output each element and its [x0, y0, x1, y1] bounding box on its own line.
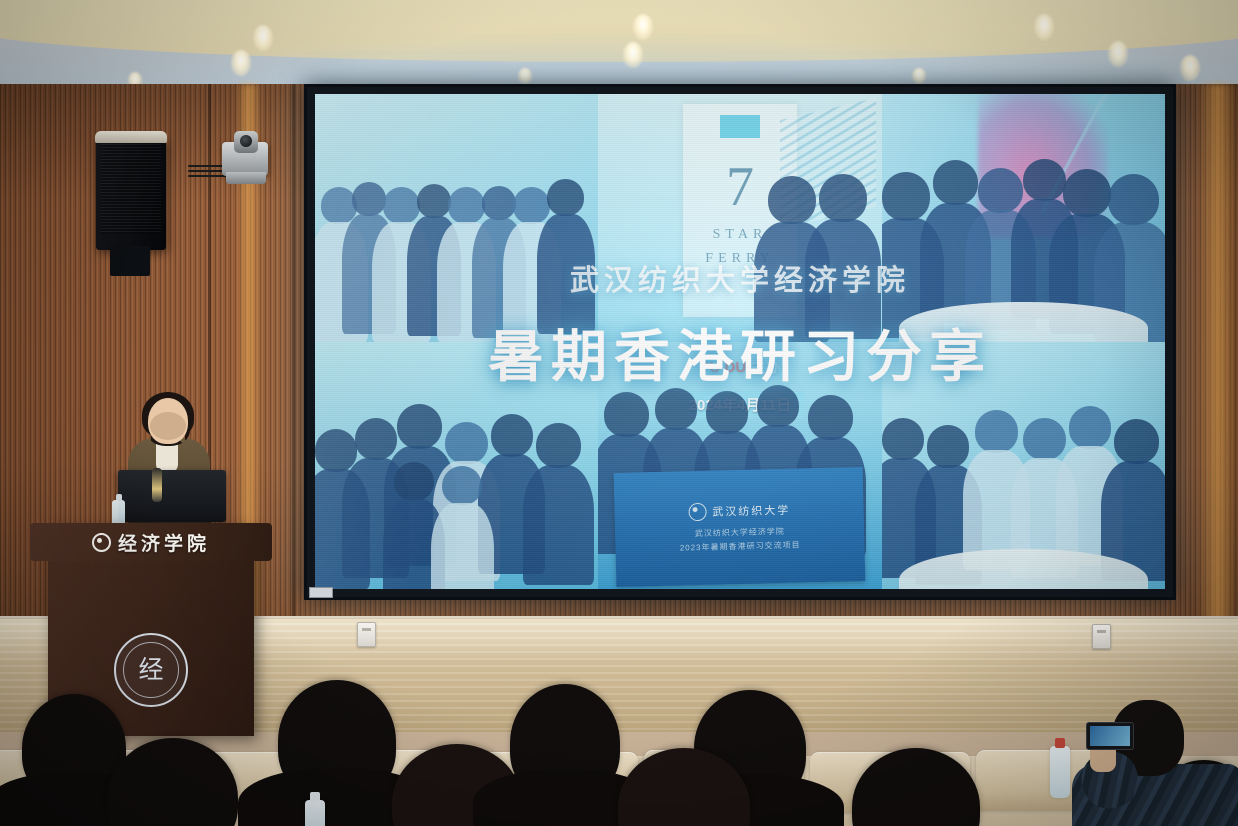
camera-mount [226, 172, 266, 184]
collage-photo-top-left [315, 94, 598, 342]
screen-surface: 7 STAR FERRY [315, 94, 1165, 589]
presenter-laptop [118, 470, 226, 522]
presentation-screen[interactable]: 7 STAR FERRY [304, 84, 1176, 600]
ceiling-light-icon [623, 42, 643, 68]
audience-member-with-phone [1064, 690, 1238, 826]
collage-photo-bottom-left [315, 342, 598, 590]
audience-water-bottle [305, 800, 325, 826]
banner-logo-row: 武汉纺织大学 [688, 501, 790, 521]
ceiling-light-icon [912, 68, 926, 84]
speaker-top-cap [95, 131, 167, 143]
banner-line-1: 武汉纺织大学经济学院 [695, 526, 785, 539]
wall-outlet [1092, 624, 1111, 649]
podium-label: 经济学院 [30, 529, 272, 556]
screen-label-tag [309, 587, 333, 598]
university-seal-icon: 经 [114, 633, 188, 707]
presenter-face [150, 412, 186, 440]
podium-top-panel: 经济学院 [30, 523, 272, 561]
camera-lens-icon [234, 131, 258, 153]
host-suffix: 主办 [750, 359, 780, 376]
ceiling-light-icon [1108, 41, 1128, 67]
photo-group-people [315, 401, 598, 589]
wall-seam [292, 84, 295, 624]
podium-logo-icon [92, 533, 111, 552]
podium-label-text: 经济学院 [118, 534, 210, 555]
host-brand: PU DU [700, 359, 747, 376]
collage-photo-top-middle: 7 STAR FERRY [598, 94, 881, 342]
photo-group-people [598, 223, 881, 342]
photo-group-people [315, 153, 598, 341]
speaker-grille [101, 144, 161, 234]
collage-photo-bottom-right [882, 342, 1165, 590]
wall-outlet [357, 622, 376, 647]
banner-line-2: 2023年暑期香港研习交流项目 [680, 540, 801, 554]
audience-area [0, 700, 1238, 826]
slide-photo-collage: 7 STAR FERRY [315, 94, 1165, 589]
ceiling-light-icon [253, 25, 273, 51]
ceiling-light-icon [518, 68, 532, 84]
audience-head [278, 680, 396, 802]
speaker-mount-bracket [110, 246, 150, 276]
sign-header-band [720, 115, 761, 138]
ceiling [0, 0, 1238, 96]
gooseneck-microphone-icon [152, 468, 162, 502]
university-seal-icon [688, 503, 706, 521]
ptz-camera [222, 142, 268, 176]
ceiling-light-icon [1180, 55, 1200, 81]
wall-warm-glow [1196, 84, 1238, 624]
ceiling-light-icon [633, 14, 653, 40]
collage-photo-top-right [882, 94, 1165, 342]
ceiling-light-icon [1034, 14, 1054, 40]
smartphone-icon [1086, 722, 1134, 750]
event-banner: 武汉纺织大学 武汉纺织大学经济学院 2023年暑期香港研习交流项目 [614, 467, 866, 587]
seal-glyph: 经 [138, 658, 163, 683]
banner-university-name: 武汉纺织大学 [712, 502, 790, 520]
ceiling-light-icon [231, 50, 251, 76]
lecture-hall-photo: 7 STAR FERRY [0, 0, 1238, 826]
audience-head [510, 684, 620, 802]
wall-speaker [96, 138, 166, 250]
collage-photo-bottom-middle: PU DU 主办 2024年4月11日 武汉纺织大学 [598, 342, 881, 590]
host-credit-line: PU DU 主办 [700, 356, 781, 377]
